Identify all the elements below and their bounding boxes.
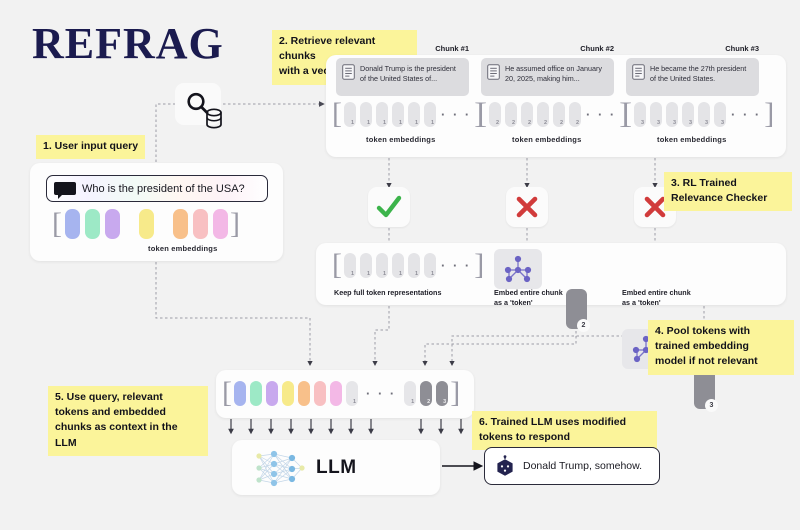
user-query-card: Who is the president of the USA? [ ] tok… xyxy=(30,163,283,261)
chunk-3-box[interactable]: He became the 27th president of the Unit… xyxy=(626,58,759,96)
chunk-3-embeddings-label: token embeddings xyxy=(657,135,726,144)
context-token-query-4 xyxy=(282,381,294,406)
answer-card: Donald Trump, somehow. xyxy=(484,447,660,485)
chunk-2-embeddings: [ 2 2 2 2 2 2 · · · ] xyxy=(477,99,629,129)
chunk-1-text: Donald Trump is the president of the Uni… xyxy=(360,64,463,90)
chunk-2-token: 2 xyxy=(537,102,549,127)
chunk-3-heading: Chunk #3 xyxy=(626,44,759,53)
callout-step-1: 1. User input query xyxy=(36,135,145,159)
graph-nodes-icon xyxy=(494,249,542,289)
bracket-left: [ xyxy=(477,99,487,129)
chunk-2-token: 2 xyxy=(553,102,565,127)
query-token-1 xyxy=(65,209,80,239)
chunk-2-embeddings-label: token embeddings xyxy=(512,135,581,144)
chunk-1-embeddings-label: token embeddings xyxy=(366,135,435,144)
query-embeddings: [ ] xyxy=(52,209,240,239)
context-token-query-3 xyxy=(266,381,278,406)
chunk-1-token: 1 xyxy=(360,102,372,127)
chunk-1-box[interactable]: Donald Trump is the president of the Uni… xyxy=(336,58,469,96)
context-token-query-1 xyxy=(234,381,246,406)
bracket-left: [ xyxy=(222,378,232,408)
query-token-5 xyxy=(173,209,188,239)
chunk-3-token: 3 xyxy=(650,102,662,127)
query-token-2 xyxy=(85,209,100,239)
chunk-2-token: 2 xyxy=(569,102,581,127)
bracket-right: ] xyxy=(450,378,460,408)
chunk-1-heading-wrap: Chunk #1 xyxy=(336,44,469,53)
document-icon xyxy=(342,64,355,80)
query-embeddings-label: token embeddings xyxy=(148,244,217,253)
neural-network-icon xyxy=(250,447,308,489)
context-token-query-6 xyxy=(314,381,326,406)
context-token-query-5 xyxy=(298,381,310,406)
diagram-canvas: REFRAG 2. Retrieve relevant chunks with … xyxy=(0,0,800,530)
kept-token-row: [ 1 1 1 1 1 1 · · · ] xyxy=(332,250,484,280)
keep-tokens-caption: Keep full token representations xyxy=(334,288,441,298)
kept-token: 1 xyxy=(392,253,404,278)
callout-step-3: 3. RL Trained Relevance Checker xyxy=(664,172,792,211)
cross-icon xyxy=(515,195,539,219)
chunk-1-token: 1 xyxy=(424,102,436,127)
chunk-1-token: 1 xyxy=(392,102,404,127)
relevance-outcome-band: [ 1 1 1 1 1 1 · · · ] Keep full token re… xyxy=(316,243,786,305)
pooled-token-chunk-2: 2 xyxy=(566,289,587,329)
relevance-cross-chunk-2[interactable] xyxy=(506,187,548,227)
check-icon xyxy=(376,195,402,219)
chunk-2-token: 2 xyxy=(505,102,517,127)
kept-token: 1 xyxy=(424,253,436,278)
context-token-pooled-3: 3 xyxy=(436,381,448,406)
ellipsis: · · · xyxy=(441,259,471,272)
context-token-pooled-2: 2 xyxy=(420,381,432,406)
llm-label: LLM xyxy=(316,457,357,479)
document-icon xyxy=(487,64,500,80)
kept-token: 1 xyxy=(376,253,388,278)
chunk-2-token: 2 xyxy=(489,102,501,127)
chunk-1-token: 1 xyxy=(408,102,420,127)
ellipsis: · · · xyxy=(586,108,616,121)
kept-token: 1 xyxy=(408,253,420,278)
query-token-7 xyxy=(213,209,228,239)
model-hex-icon xyxy=(495,455,515,477)
bracket-left: [ xyxy=(622,99,632,129)
query-input[interactable]: Who is the president of the USA? xyxy=(46,175,268,202)
kept-token: 1 xyxy=(344,253,356,278)
chunk-3-text: He became the 27th president of the Unit… xyxy=(650,64,753,90)
chunk-3-embeddings: [ 3 3 3 3 3 3 · · · ] xyxy=(622,99,774,129)
chunk-3-token: 3 xyxy=(666,102,678,127)
chunk-2-heading-wrap: Chunk #2 xyxy=(481,44,614,53)
chunk-1-token: 1 xyxy=(376,102,388,127)
bracket-right: ] xyxy=(230,209,240,239)
context-token-chunk1: 1 xyxy=(346,381,358,406)
chunk-3-token: 3 xyxy=(682,102,694,127)
chunk-1-embeddings: [ 1 1 1 1 1 1 · · · ] xyxy=(332,99,484,129)
ellipsis: · · · xyxy=(441,108,471,121)
page-title: REFRAG xyxy=(32,18,224,69)
chunk-2-text: He assumed office on January 20, 2025, m… xyxy=(505,64,608,90)
chunk-3-token: 3 xyxy=(698,102,710,127)
pooled-token-index: 2 xyxy=(577,319,590,332)
context-token-chunk1-last: 1 xyxy=(404,381,416,406)
chunk-3-heading-wrap: Chunk #3 xyxy=(626,44,759,53)
context-token-row: [ 1 · · · 1 2 3 ] xyxy=(222,378,460,408)
chunk-2-box[interactable]: He assumed office on January 20, 2025, m… xyxy=(481,58,614,96)
llm-context-sequence: [ 1 · · · 1 2 3 ] xyxy=(216,370,474,418)
answer-text: Donald Trump, somehow. xyxy=(523,460,642,472)
callout-step-5: 5. Use query, relevant tokens and embedd… xyxy=(48,386,208,456)
llm-card[interactable]: LLM xyxy=(232,440,440,495)
document-icon xyxy=(632,64,645,80)
pool-caption-chunk-3: Embed entire chunk as a 'token' xyxy=(622,288,691,308)
query-token-6 xyxy=(193,209,208,239)
bracket-right: ] xyxy=(764,99,774,129)
ellipsis: · · · xyxy=(366,387,396,400)
retrieved-chunks-band: Chunk #1 Donald Trump is the president o… xyxy=(326,55,786,157)
query-text: Who is the president of the USA? xyxy=(82,183,245,195)
bracket-left: [ xyxy=(332,99,342,129)
query-token-3 xyxy=(105,209,120,239)
bracket-left: [ xyxy=(52,209,62,239)
bracket-left: [ xyxy=(332,250,342,280)
pooled-token-index: 3 xyxy=(705,399,718,412)
relevance-check-chunk-1[interactable] xyxy=(368,187,410,227)
callout-step-6: 6. Trained LLM uses modified tokens to r… xyxy=(472,411,657,450)
ellipsis: · · · xyxy=(731,108,761,121)
chunk-3-token: 3 xyxy=(634,102,646,127)
embedding-model-tile-chunk-2[interactable] xyxy=(494,249,542,289)
query-token-4 xyxy=(139,209,154,239)
pool-caption-chunk-2: Embed entire chunk as a 'token' xyxy=(494,288,563,308)
chunk-1-heading: Chunk #1 xyxy=(336,44,469,53)
context-token-query-7 xyxy=(330,381,342,406)
chunk-3-token: 3 xyxy=(714,102,726,127)
kept-token: 1 xyxy=(360,253,372,278)
callout-step-4: 4. Pool tokens with trained embedding mo… xyxy=(648,320,794,375)
chunk-1-token: 1 xyxy=(344,102,356,127)
database-icon xyxy=(204,108,224,130)
chunk-2-heading: Chunk #2 xyxy=(481,44,614,53)
bracket-right: ] xyxy=(474,250,484,280)
cursor-icon xyxy=(54,182,76,195)
pooled-token-chunk-3: 3 xyxy=(694,369,715,409)
chunk-2-token: 2 xyxy=(521,102,533,127)
context-token-query-2 xyxy=(250,381,262,406)
